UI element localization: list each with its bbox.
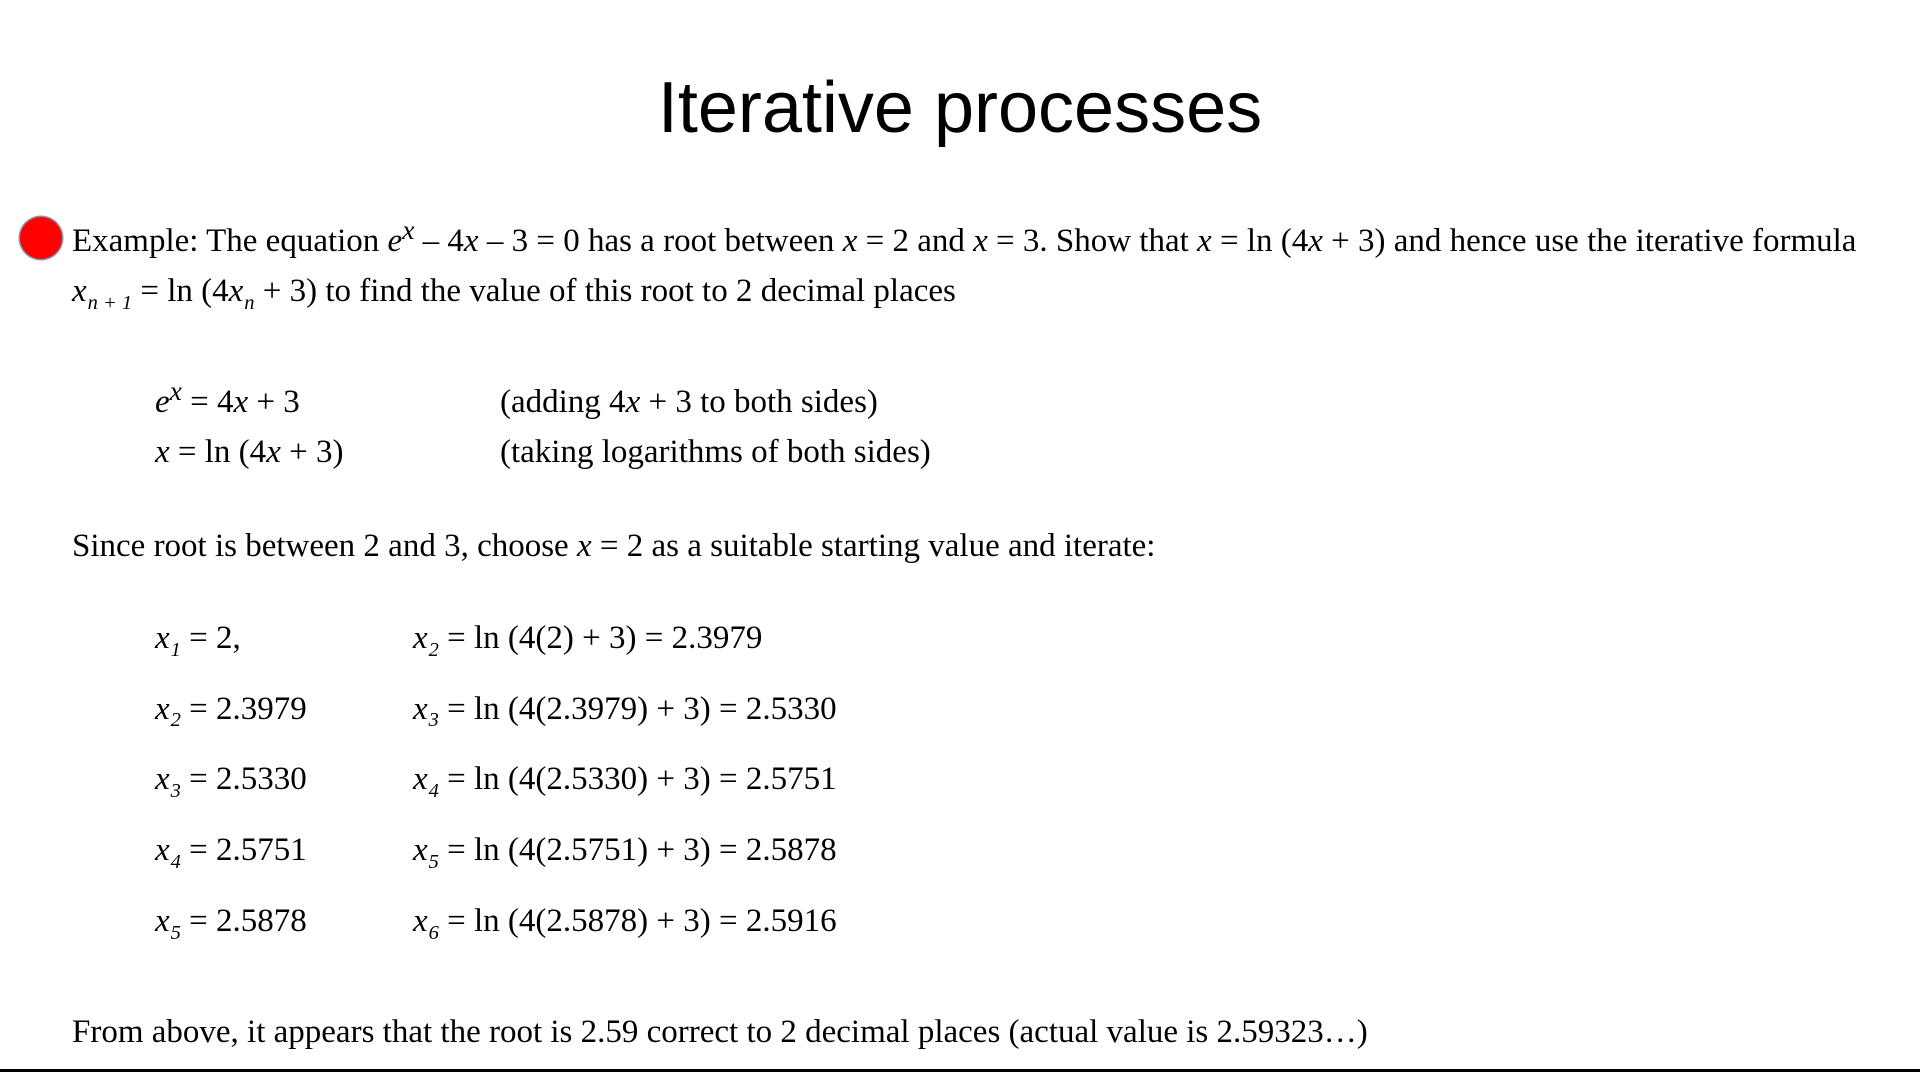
iteration-row: x3 = 2.5330 x4 = ln (4(2.5330) + 3) = 2.… xyxy=(155,750,1920,821)
example-line1-mid1: – 4 xyxy=(414,223,464,259)
eq1-note-post: + 3 to both sides) xyxy=(640,384,878,420)
equation-1-expression: ex = 4x + 3 xyxy=(155,366,500,427)
iter3-left-rest: = 2.5330 xyxy=(181,761,307,797)
spacer-before-iterations xyxy=(0,571,1920,609)
eq2-var: x xyxy=(266,434,281,470)
iter2-left-rest: = 2.3979 xyxy=(181,691,307,727)
equation-2-note: (taking logarithms of both sides) xyxy=(500,427,931,477)
spacer-after-example xyxy=(0,328,1920,366)
iter2-left-var: x xyxy=(155,691,170,727)
example-bullet-text: Example: The equation ex – 4x – 3 = 0 ha… xyxy=(72,205,1880,328)
example-xn1-base: x xyxy=(72,273,87,309)
iteration-row: x4 = 2.5751 x5 = ln (4(2.5751) + 3) = 2.… xyxy=(155,821,1920,892)
slide-body: Example: The equation ex – 4x – 3 = 0 ha… xyxy=(0,205,1920,1057)
equation-row-1: ex = 4x + 3 (adding 4x + 3 to both sides… xyxy=(155,366,1920,427)
since-pre: Since root is between 2 and 3, choose xyxy=(72,528,577,564)
slide-canvas: Iterative processes Example: The equatio… xyxy=(0,0,1920,1080)
example-line1-mid4: = 3. Show that xyxy=(988,223,1197,259)
equation-1-note: (adding 4x + 3 to both sides) xyxy=(500,377,878,427)
since-var: x xyxy=(577,528,592,564)
iter3-left-var: x xyxy=(155,761,170,797)
iter5-left-rest: = 2.5878 xyxy=(181,903,307,939)
eq1-e-exponent: x xyxy=(170,375,182,406)
example-x2: x xyxy=(843,223,858,259)
example-line1-end: + 3) and hence use the iterative formula xyxy=(1323,223,1857,259)
iteration-2-right: x3 = ln (4(2.3979) + 3) = 2.5330 xyxy=(413,680,837,751)
iter2-right-subscript: 3 xyxy=(428,709,439,731)
spacer-before-since xyxy=(0,477,1920,521)
eq2-rest: = ln (4 xyxy=(170,434,267,470)
example-x1: x xyxy=(464,223,479,259)
example-line1-mid3: = 2 and xyxy=(857,223,973,259)
example-e-base: e xyxy=(388,223,403,259)
iteration-4-right: x5 = ln (4(2.5751) + 3) = 2.5878 xyxy=(413,821,837,892)
example-xn-base: x xyxy=(229,273,244,309)
iter3-left-subscript: 3 xyxy=(170,780,181,802)
iteration-2-left: x2 = 2.3979 xyxy=(155,680,413,751)
iter4-left-var: x xyxy=(155,832,170,868)
page-title: Iterative processes xyxy=(0,72,1920,144)
example-line2-end: + 3) to find the value of this root to 2… xyxy=(255,273,956,309)
iteration-3-right: x4 = ln (4(2.5330) + 3) = 2.5751 xyxy=(413,750,837,821)
iteration-row: x5 = 2.5878 x6 = ln (4(2.5878) + 3) = 2.… xyxy=(155,892,1920,963)
iter4-left-subscript: 4 xyxy=(170,851,181,873)
eq2-tail: + 3) xyxy=(281,434,344,470)
iter4-right-rest: = ln (4(2.5751) + 3) = 2.5878 xyxy=(439,832,837,868)
iteration-list: x1 = 2, x2 = ln (4(2) + 3) = 2.3979 x2 =… xyxy=(0,609,1920,963)
iter5-left-var: x xyxy=(155,903,170,939)
iteration-row: x1 = 2, x2 = ln (4(2) + 3) = 2.3979 xyxy=(155,609,1920,680)
example-xn1-subscript: n + 1 xyxy=(87,292,132,314)
derivation-equations: ex = 4x + 3 (adding 4x + 3 to both sides… xyxy=(0,366,1920,477)
iter5-right-rest: = ln (4(2.5878) + 3) = 2.5916 xyxy=(439,903,837,939)
iter1-right-subscript: 2 xyxy=(428,639,439,661)
iter2-right-rest: = ln (4(2.3979) + 3) = 2.5330 xyxy=(439,691,837,727)
red-circle-bullet-icon xyxy=(20,217,62,259)
iteration-5-right: x6 = ln (4(2.5878) + 3) = 2.5916 xyxy=(413,892,837,963)
example-line1-mid2: – 3 = 0 has a root between xyxy=(479,223,843,259)
example-x5: x xyxy=(1308,223,1323,259)
conclusion-paragraph: From above, it appears that the root is … xyxy=(0,1007,1920,1057)
example-x4: x xyxy=(1197,223,1212,259)
iter5-left-subscript: 5 xyxy=(170,922,181,944)
iter4-right-var: x xyxy=(413,832,428,868)
example-e-exponent: x xyxy=(402,214,414,245)
equation-2-expression: x = ln (4x + 3) xyxy=(155,427,500,477)
iter2-left-subscript: 2 xyxy=(170,709,181,731)
example-line1-pre: Example: The equation xyxy=(72,223,388,259)
example-bullet-paragraph: Example: The equation ex – 4x – 3 = 0 ha… xyxy=(0,205,1920,328)
eq1-note-pre: (adding 4 xyxy=(500,384,626,420)
iter5-right-subscript: 6 xyxy=(428,922,439,944)
iteration-1-left: x1 = 2, xyxy=(155,609,413,680)
example-xn-subscript: n xyxy=(243,292,254,314)
iter4-right-subscript: 5 xyxy=(428,851,439,873)
example-line1-mid5: = ln (4 xyxy=(1212,223,1309,259)
example-line2-mid: = ln (4 xyxy=(132,273,229,309)
iter1-right-rest: = ln (4(2) + 3) = 2.3979 xyxy=(439,620,762,656)
since-root-paragraph: Since root is between 2 and 3, choose x … xyxy=(0,521,1920,571)
iteration-4-left: x4 = 2.5751 xyxy=(155,821,413,892)
iteration-3-left: x3 = 2.5330 xyxy=(155,750,413,821)
example-x3: x xyxy=(973,223,988,259)
iter1-right-var: x xyxy=(413,620,428,656)
iter3-right-var: x xyxy=(413,761,428,797)
eq1-note-var: x xyxy=(626,384,641,420)
iter1-left-subscript: 1 xyxy=(170,639,181,661)
eq2-var-first: x xyxy=(155,434,170,470)
iter5-right-var: x xyxy=(413,903,428,939)
iter4-left-rest: = 2.5751 xyxy=(181,832,307,868)
equation-row-2: x = ln (4x + 3) (taking logarithms of bo… xyxy=(155,427,1920,477)
iter1-left-var: x xyxy=(155,620,170,656)
iter3-right-rest: = ln (4(2.5330) + 3) = 2.5751 xyxy=(439,761,837,797)
eq1-rest: = 4 xyxy=(182,384,234,420)
iteration-1-right: x2 = ln (4(2) + 3) = 2.3979 xyxy=(413,609,762,680)
bottom-divider xyxy=(0,1069,1920,1072)
eq1-tail: + 3 xyxy=(248,384,300,420)
iter3-right-subscript: 4 xyxy=(428,780,439,802)
iteration-5-left: x5 = 2.5878 xyxy=(155,892,413,963)
eq1-var: x xyxy=(234,384,249,420)
iter2-right-var: x xyxy=(413,691,428,727)
spacer-before-conclusion xyxy=(0,963,1920,1007)
iter1-left-rest: = 2, xyxy=(181,620,241,656)
eq1-e-base: e xyxy=(155,384,170,420)
since-post: = 2 as a suitable starting value and ite… xyxy=(592,528,1156,564)
iteration-row: x2 = 2.3979 x3 = ln (4(2.3979) + 3) = 2.… xyxy=(155,680,1920,751)
